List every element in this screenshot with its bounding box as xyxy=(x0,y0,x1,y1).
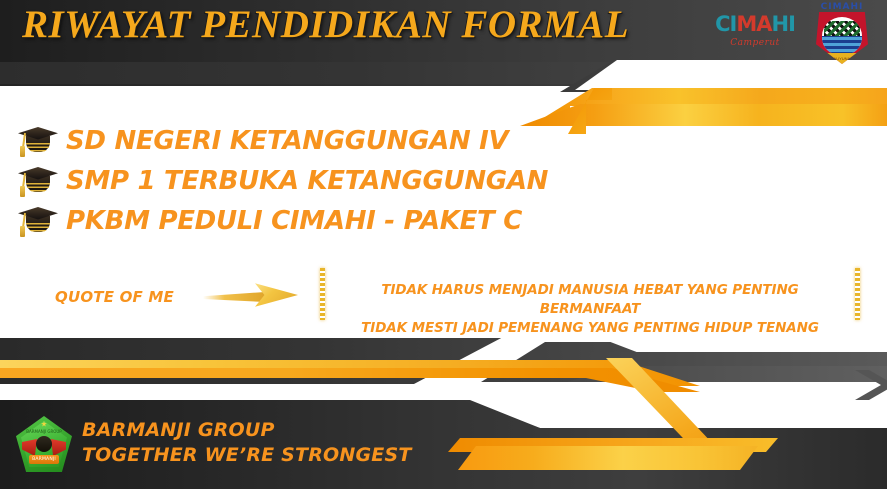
slide-canvas: RIWAYAT PENDIDIKAN FORMAL CIMAHI Camperu… xyxy=(0,0,887,489)
logo-banner: BARMANJI xyxy=(29,455,59,464)
education-item-label: SD NEGERI KETANGGUNGAN IV xyxy=(66,126,508,156)
quote-divider-left xyxy=(320,268,325,320)
graduation-cap-icon xyxy=(14,124,62,158)
footer-gold-stripe-front xyxy=(458,446,758,470)
emblem-banner: SAUYUNAN xyxy=(823,53,861,64)
right-arrow-icon xyxy=(203,281,298,309)
footer-tagline: TOGETHER WE’RE STRONGEST xyxy=(82,443,412,468)
quote-line-1: TIDAK HARUS MENJADI MANUSIA HEBAT YANG P… xyxy=(332,281,848,319)
graduation-cap-icon xyxy=(14,164,62,198)
quote-divider-right xyxy=(855,268,860,320)
page-title: RIWAYAT PENDIDIKAN FORMAL xyxy=(22,2,629,47)
graduation-cap-icon xyxy=(14,204,62,238)
education-item-label: PKBM PEDULI CIMAHI - PAKET C xyxy=(66,206,522,236)
list-item: SMP 1 TERBUKA KETANGGUNGAN xyxy=(14,162,548,200)
quote-label: QUOTE OF ME xyxy=(55,288,174,306)
cimahi-word-part1: CI xyxy=(715,12,736,36)
cimahi-city-emblem: CIMAHI SAUYUNAN xyxy=(806,2,878,68)
education-list: SD NEGERI KETANGGUNGAN IV SMP 1 TERBUKA … xyxy=(14,122,548,240)
emblem-shield-icon: SAUYUNAN xyxy=(816,12,868,64)
cimahi-wordmark-tagline: Camperut xyxy=(700,38,810,48)
quote-line-2: TIDAK MESTI JADI PEMENANG YANG PENTING H… xyxy=(332,319,848,338)
list-item: PKBM PEDULI CIMAHI - PAKET C xyxy=(14,202,548,240)
footer-text-block: BARMANJI GROUP TOGETHER WE’RE STRONGEST xyxy=(82,418,412,468)
emblem-mountain-icon xyxy=(824,21,860,36)
quote-text: TIDAK HARUS MENJADI MANUSIA HEBAT YANG P… xyxy=(332,281,848,338)
logo-head-icon xyxy=(36,436,52,452)
cimahi-wordmark-text: CIMAHI xyxy=(715,14,795,35)
list-item: SD NEGERI KETANGGUNGAN IV xyxy=(14,122,548,160)
cimahi-word-wave: MA xyxy=(736,12,771,36)
education-item-label: SMP 1 TERBUKA KETANGGUNGAN xyxy=(66,166,548,196)
barmanji-group-logo: BARMANJI GROUP BARMANJI xyxy=(16,416,72,472)
cimahi-wordmark-logo: CIMAHI Camperut xyxy=(700,14,810,56)
emblem-circle xyxy=(822,17,862,55)
footer-group-name: BARMANJI GROUP xyxy=(82,418,412,443)
emblem-label: CIMAHI xyxy=(806,2,878,12)
cimahi-word-part2: HI xyxy=(772,12,795,36)
